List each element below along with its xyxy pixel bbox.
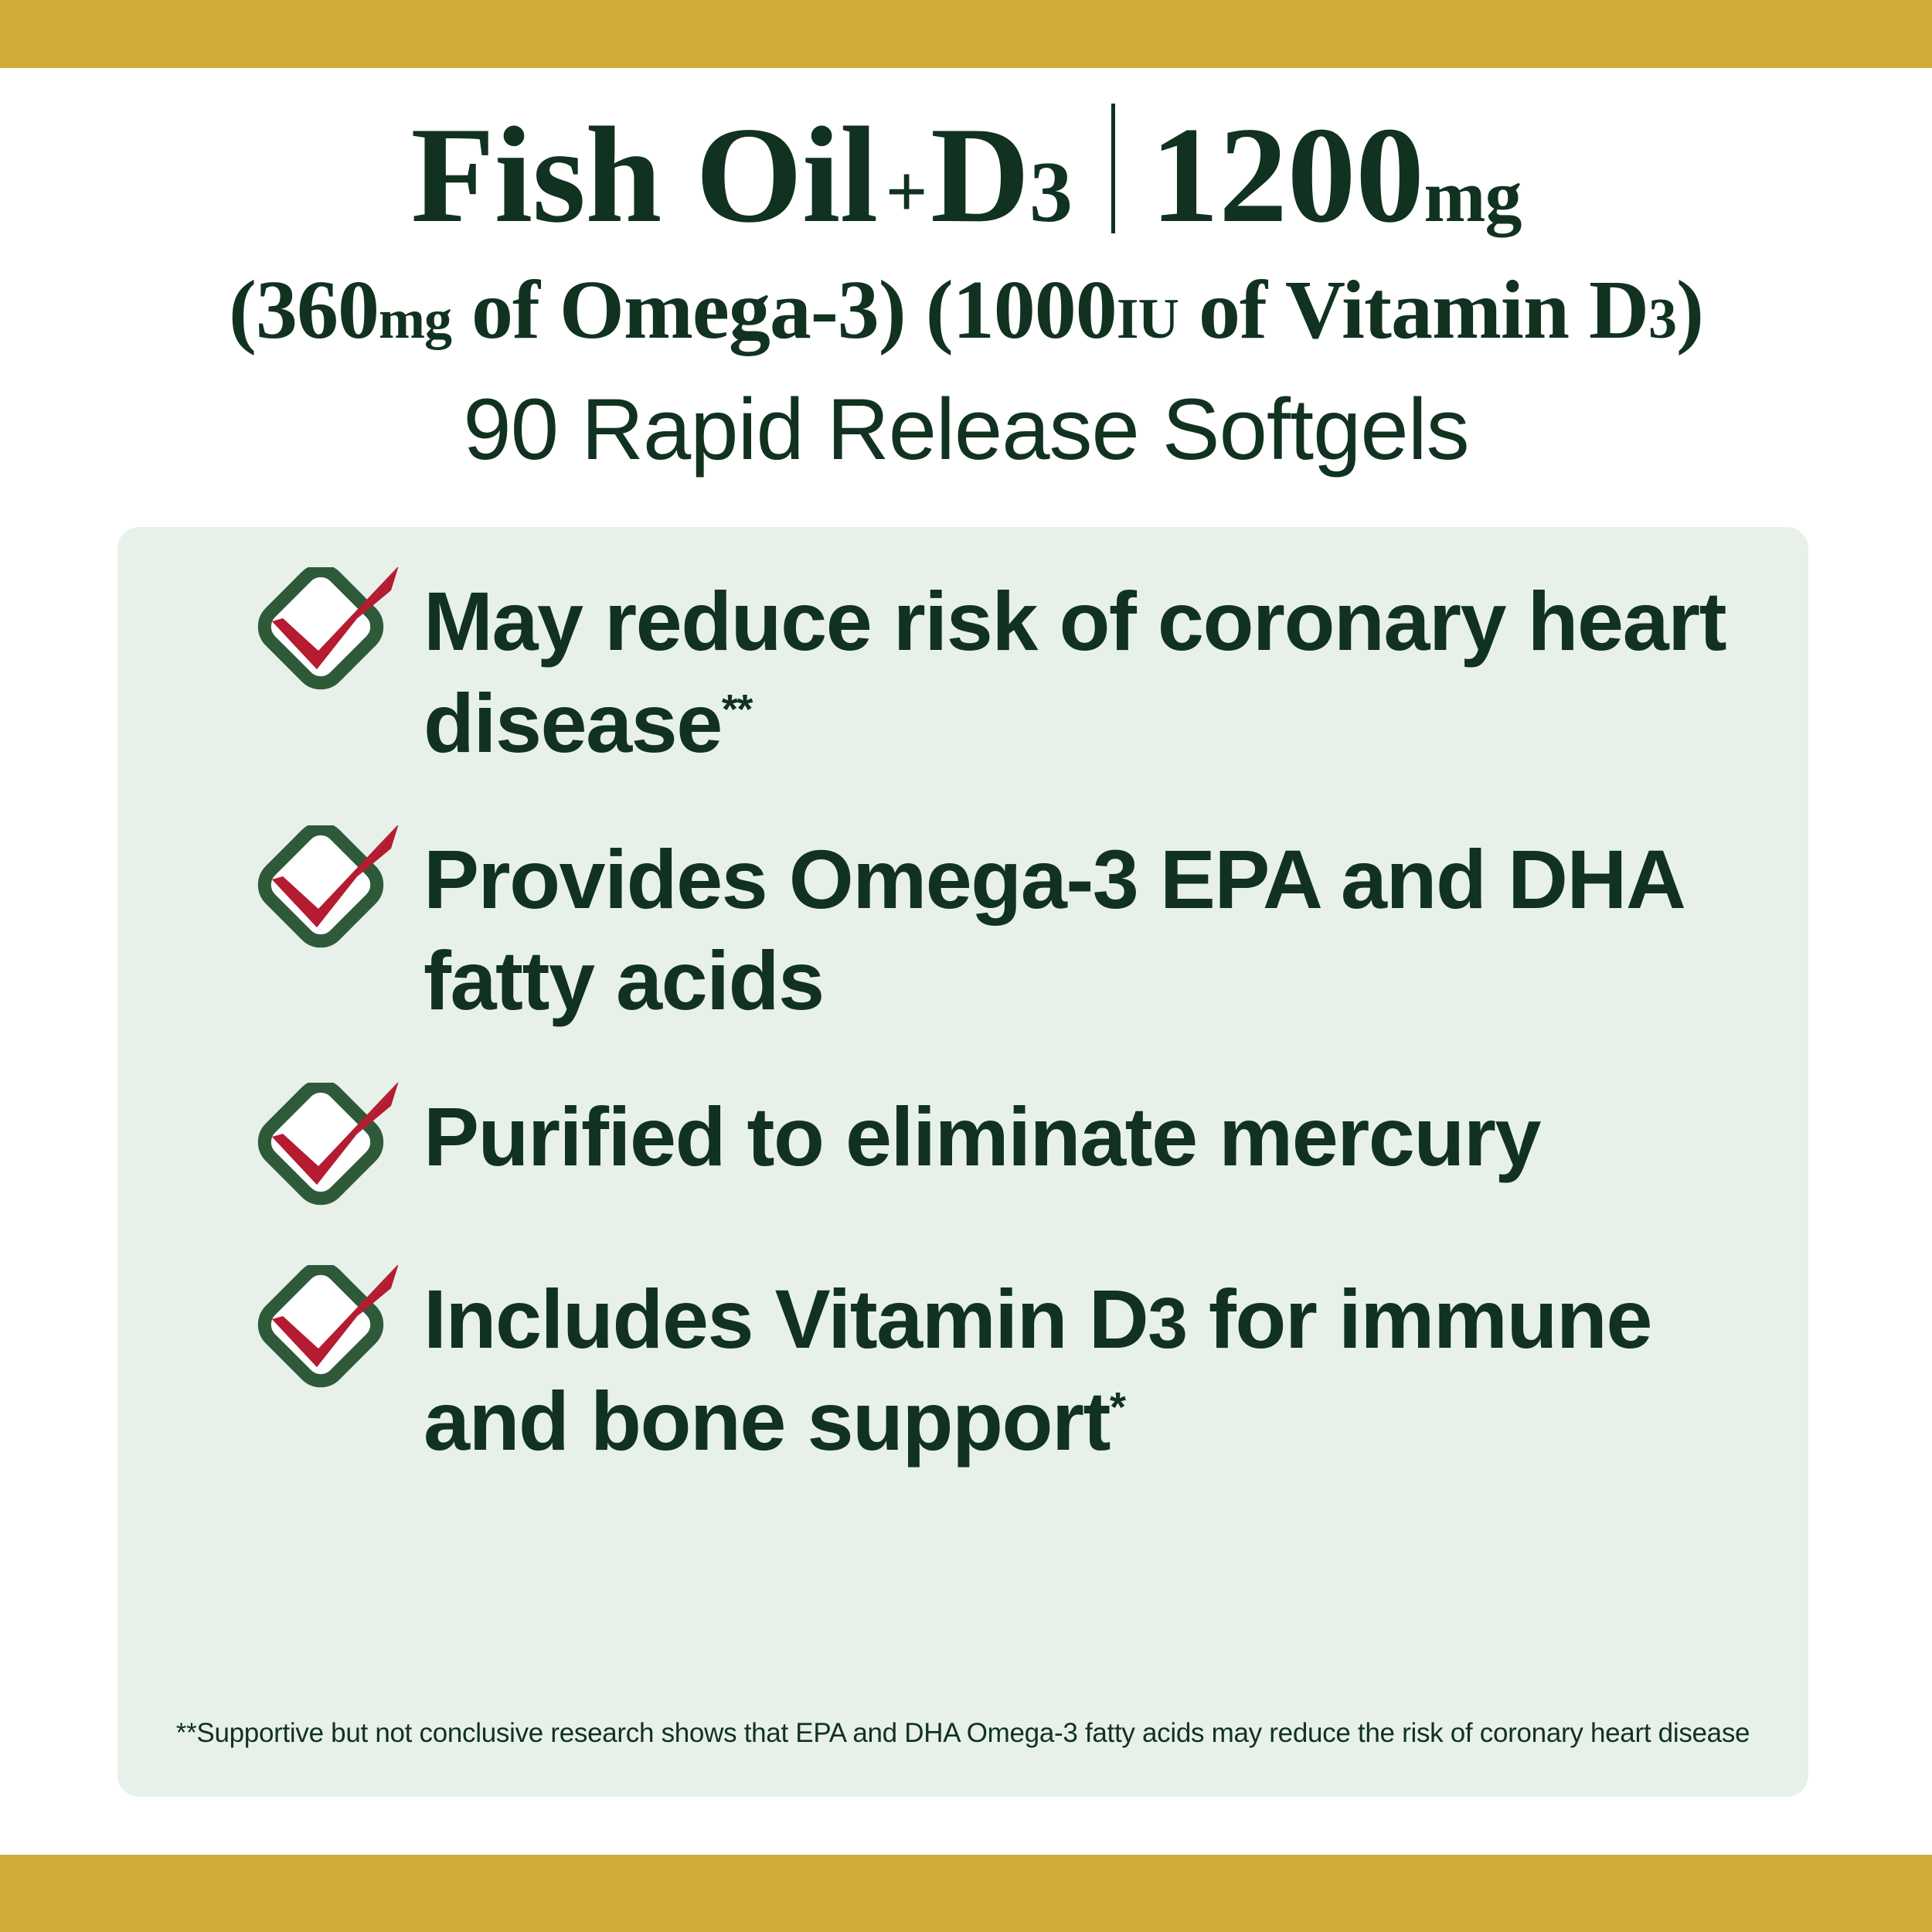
omega3-unit: mg — [379, 288, 451, 350]
checkmark-diamond-icon — [255, 825, 410, 957]
benefits-panel: May reduce risk of coronary heart diseas… — [117, 527, 1808, 1797]
dose-unit: mg — [1424, 159, 1522, 233]
checkmark-diamond-icon — [255, 1083, 410, 1214]
benefit-text: Includes Vitamin D3 for immune and bone … — [423, 1262, 1770, 1472]
vitamin-letter: D — [930, 106, 1029, 243]
product-header: Fish Oil + D 3 1200 mg (360mg of Omega-3… — [0, 91, 1932, 473]
benefit-footnote-marker: * — [1110, 1384, 1125, 1430]
benefit-item-vitamin-d3-immune-bone: Includes Vitamin D3 for immune and bone … — [255, 1262, 1770, 1472]
vitamin-number: 3 — [1029, 149, 1073, 236]
checkmark-diamond-icon — [255, 1265, 410, 1396]
benefit-text: May reduce risk of coronary heart diseas… — [423, 564, 1770, 774]
vitamind-amount: 1000 — [953, 264, 1117, 356]
vitamind-paren-open: ( — [926, 264, 953, 356]
omega3-amount: 360 — [256, 264, 379, 356]
benefit-text: Provides Omega-3 EPA and DHA fatty acids — [423, 822, 1770, 1032]
benefit-item-omega-3-epa-dha: Provides Omega-3 EPA and DHA fatty acids — [255, 822, 1770, 1032]
benefit-footnote-marker: ** — [722, 686, 752, 733]
benefits-list: May reduce risk of coronary heart diseas… — [255, 564, 1770, 1472]
omega3-label: of Omega-3) — [451, 264, 906, 356]
top-gold-band — [0, 0, 1932, 68]
product-benefits-infographic: Fish Oil + D 3 1200 mg (360mg of Omega-3… — [0, 0, 1932, 1932]
vitamin-d3-subscript: 3 — [1148, 1283, 1186, 1363]
vitamind-paren-close: ) — [1676, 264, 1703, 356]
plus-sign: + — [886, 155, 927, 229]
vitamind-label: of Vitamin D — [1179, 264, 1648, 356]
benefit-item-coronary-heart-disease: May reduce risk of coronary heart diseas… — [255, 564, 1770, 774]
checkmark-diamond-icon — [255, 567, 410, 699]
benefit-text: Purified to eliminate mercury — [423, 1080, 1770, 1188]
product-title-line: Fish Oil + D 3 1200 mg — [0, 91, 1932, 243]
dose-breakdown-line: (360mg of Omega-3) (1000IU of Vitamin D3… — [0, 267, 1932, 354]
softgel-count-line: 90 Rapid Release Softgels — [0, 386, 1932, 473]
vitamind-subscript: 3 — [1648, 287, 1676, 351]
product-name: Fish Oil — [410, 106, 877, 243]
footnote-text: **Supportive but not conclusive research… — [117, 1718, 1808, 1749]
vitamind-unit: IU — [1117, 287, 1179, 351]
title-divider — [1111, 104, 1115, 233]
dose-amount: 1200 — [1151, 106, 1424, 243]
benefit-item-purified-mercury: Purified to eliminate mercury — [255, 1080, 1770, 1214]
omega3-paren-open: ( — [229, 264, 256, 356]
bottom-gold-band — [0, 1855, 1932, 1932]
